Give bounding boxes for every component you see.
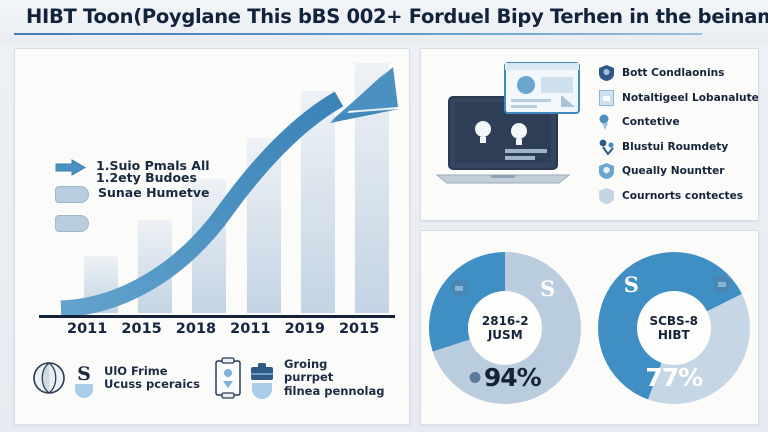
feature-list-label: Cournorts contectes (622, 190, 743, 202)
chart-footer-text-1: UlO Frime Ucuss pceraics (104, 365, 200, 392)
bullet-icon (470, 372, 481, 383)
donut-percent-value: 94% (484, 363, 541, 392)
bar-swatch-icon (55, 186, 89, 203)
x-axis-tick-label: 2011 (230, 321, 264, 343)
chart-legend: 1.Suio Pmals All 1.2ety Budoes Sunae Hum… (55, 159, 255, 238)
bar (83, 256, 118, 313)
x-axis-tick-label: 2019 (285, 321, 319, 343)
header-bar: HIBT Toon(Poyglane This bBS 002+ Forduel… (0, 0, 768, 44)
footer-line: purrpet (284, 371, 384, 385)
bar-chart-card: 1.Suio Pmals All 1.2ety Budoes Sunae Hum… (14, 48, 410, 425)
chart-footer-group-2: Groing purrpet filnea pennolag (211, 343, 401, 413)
crest-icon (712, 274, 732, 294)
footer-line: Ucuss pceraics (104, 378, 200, 392)
feature-list-item[interactable]: Cournorts contectes (599, 184, 751, 209)
feature-list-label: Contetive (622, 116, 680, 128)
donut-center: 2816-2JUSM (468, 291, 542, 365)
donut-percent-value: 77% (645, 363, 702, 392)
footer-line: filnea pennolag (284, 385, 384, 399)
donut-percent-label: 77% (645, 363, 702, 392)
legend-item: Sunae Humetve (55, 186, 255, 209)
bar (300, 91, 335, 313)
globe-icon (29, 358, 69, 398)
feature-list-item[interactable]: Queally Nountter (599, 159, 751, 184)
feature-list-item[interactable]: Bott Condlaonins (599, 61, 751, 86)
legend-label: 1.2ety Budoes (96, 171, 210, 184)
chart-footer-group-1: S UlO Frime Ucuss pceraics (29, 343, 209, 413)
currency-glyph-icon: S (624, 272, 639, 297)
svg-text:S: S (77, 363, 91, 385)
feature-list-label: Bott Condlaonins (622, 67, 724, 79)
donut-center-line1: SCBS-8 (649, 314, 698, 328)
feature-list-card: Bott CondlaoninsNotaltigeel LobanaluteCo… (420, 48, 759, 221)
network-icon (599, 139, 614, 155)
donut-center-line2: JUSM (488, 328, 523, 342)
hand-icon (599, 114, 614, 130)
feature-list-item[interactable]: Blustui Roumdety (599, 135, 751, 160)
donut-row: S2816-2JUSM94%SSCBS-8HIBT77% (421, 231, 758, 424)
donut-center-line1: 2816-2 (482, 314, 529, 328)
briefcase-person-icon (247, 357, 277, 399)
infographic-page: HIBT Toon(Poyglane This bBS 002+ Forduel… (0, 0, 768, 432)
footer-line: Groing (284, 358, 384, 372)
x-axis-line (39, 315, 395, 318)
arrow-right-icon (55, 159, 87, 176)
bar (354, 63, 389, 313)
legend-label: Sunae Humetve (98, 186, 210, 199)
donut-center-line2: HIBT (658, 328, 690, 342)
footer-line: UlO Frime (104, 365, 200, 379)
feature-list: Bott CondlaoninsNotaltigeel LobanaluteCo… (599, 61, 751, 208)
feature-list-label: Blustui Roumdety (622, 141, 728, 153)
legend-item (55, 215, 255, 238)
x-axis-labels: 201120152018201120192015 (67, 321, 373, 343)
shield-icon (599, 65, 614, 81)
bar-swatch-icon (55, 215, 89, 232)
badge-icon (599, 163, 614, 179)
dollar-person-icon: S (71, 358, 97, 398)
feature-list-item[interactable]: Notaltigeel Lobanalute (599, 86, 751, 111)
clipboard-icon (211, 357, 245, 399)
document-icon (599, 90, 614, 106)
feature-list-item[interactable]: Contetive (599, 110, 751, 135)
chart-footer-text-2: Groing purrpet filnea pennolag (284, 358, 384, 399)
x-axis-tick-label: 2015 (121, 321, 155, 343)
x-axis-tick-label: 2018 (176, 321, 210, 343)
feature-list-label: Notaltigeel Lobanalute (622, 92, 759, 104)
legend-item: 1.Suio Pmals All 1.2ety Budoes (55, 159, 255, 182)
donut-card: S2816-2JUSM94%SSCBS-8HIBT77% (420, 230, 759, 425)
currency-glyph-icon: S (540, 276, 555, 301)
shield-light-icon (599, 188, 614, 204)
donut-chart: SSCBS-8HIBT77% (598, 252, 750, 404)
x-axis-tick-label: 2011 (67, 321, 101, 343)
x-axis-tick-label: 2015 (339, 321, 373, 343)
donut-chart: S2816-2JUSM94% (429, 252, 581, 404)
bar-chart-plot: 1.Suio Pmals All 1.2ety Budoes Sunae Hum… (31, 55, 393, 313)
page-title: HIBT Toon(Poyglane This bBS 002+ Forduel… (26, 5, 742, 28)
crest-icon (449, 278, 469, 298)
title-divider (14, 33, 702, 35)
donut-center: SCBS-8HIBT (637, 291, 711, 365)
feature-list-label: Queally Nountter (622, 165, 725, 177)
laptop-illustration (431, 57, 591, 207)
donut-percent-label: 94% (470, 363, 541, 392)
